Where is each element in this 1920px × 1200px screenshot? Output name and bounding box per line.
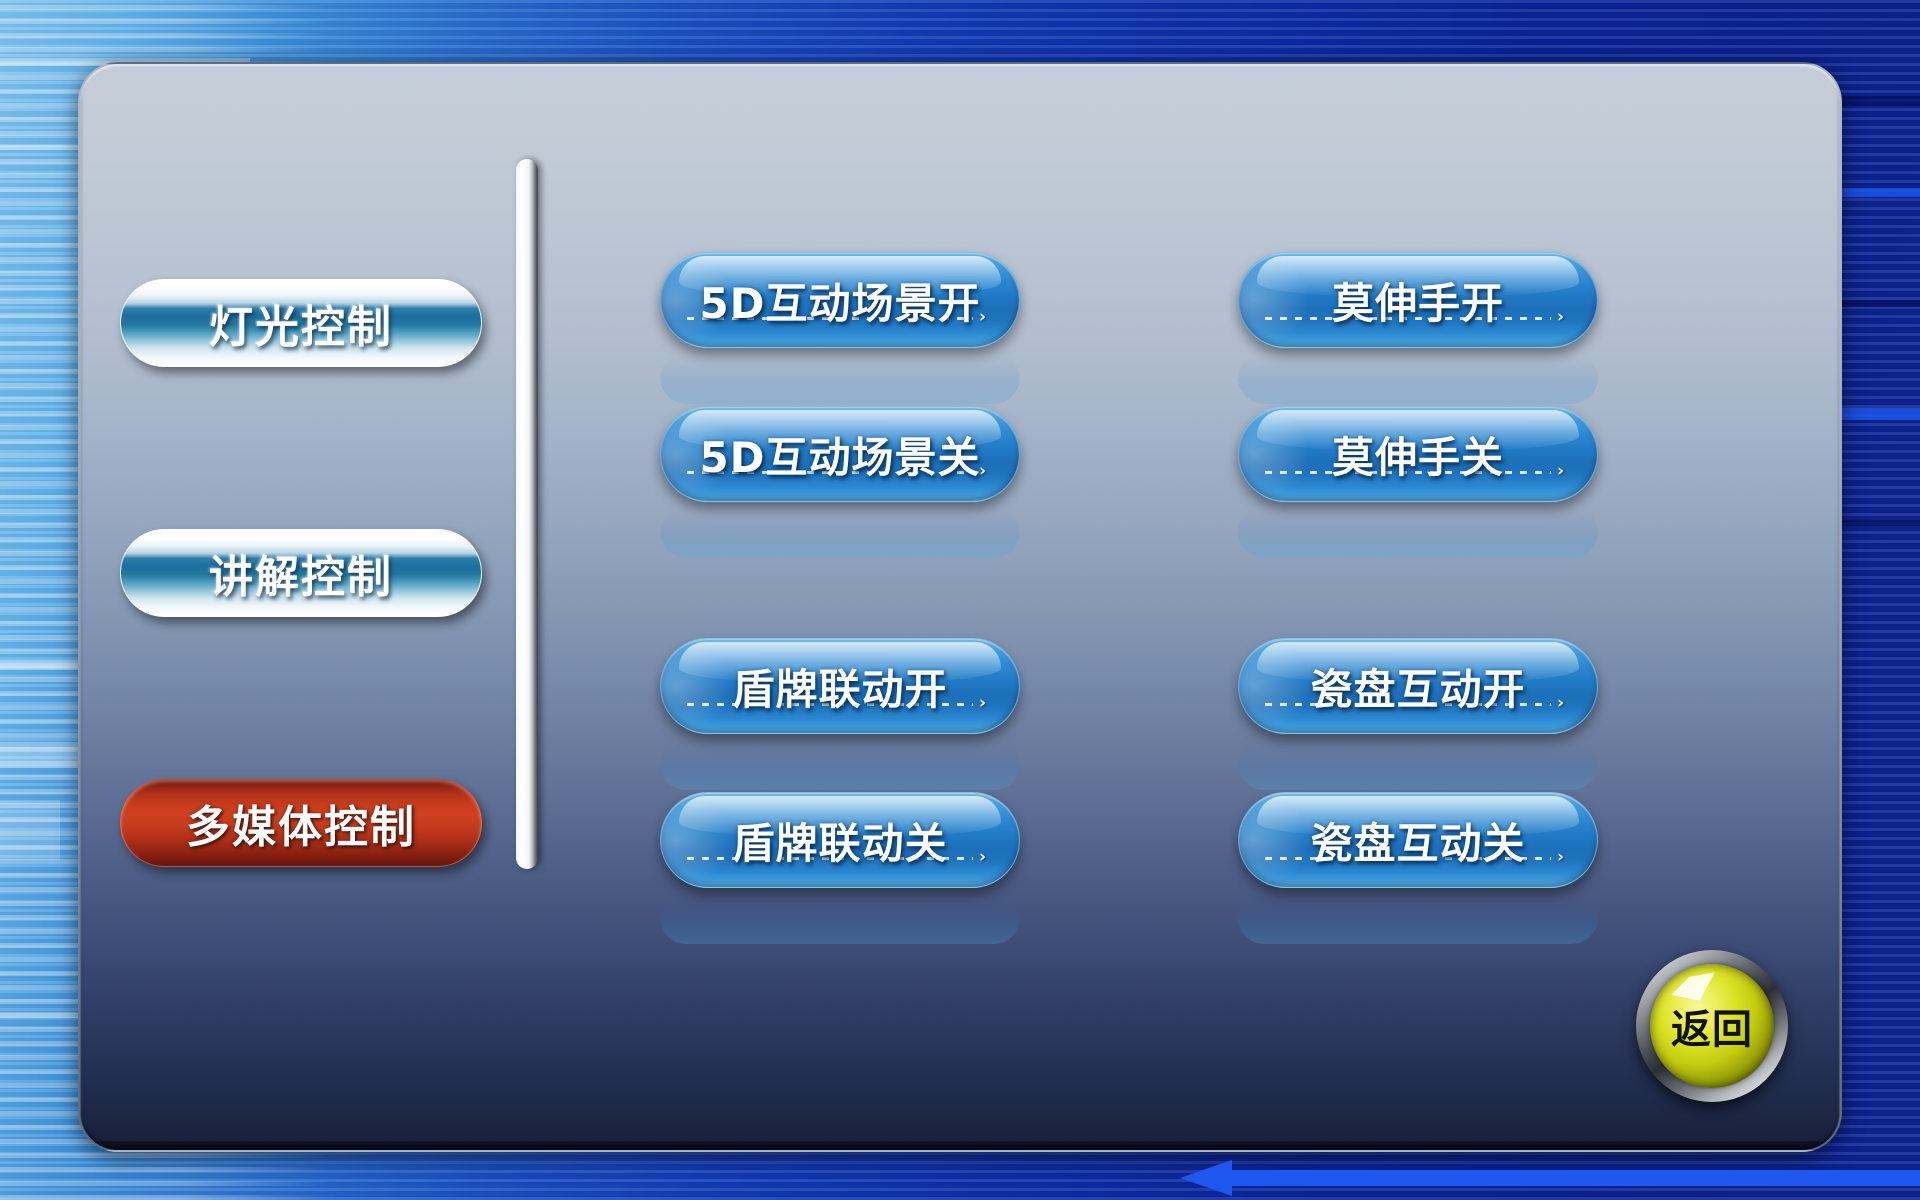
action-button-5d-scene-on[interactable]: 5D互动场景开 › [660,252,1020,348]
chevron-right-icon: › [979,697,995,711]
chevron-right-icon: › [1557,311,1573,325]
button-cell: 莫伸手关 › [1238,406,1598,560]
action-button-label: 莫伸手关 [1332,424,1504,485]
chevron-right-icon: › [1557,851,1573,865]
sidebar-nav: 灯光控制 讲解控制 多媒体控制 [120,279,500,1029]
sidebar-item-label: 讲解控制 [209,541,393,605]
button-reflection [660,742,1020,790]
button-cell: 5D互动场景关 › [660,406,1020,560]
button-reflection [1238,510,1598,558]
sidebar-item-label: 灯光控制 [209,291,393,355]
action-button-moshenshou-on[interactable]: 莫伸手开 › [1238,252,1598,348]
button-cell: 盾牌联动开 › [660,638,1020,792]
chevron-right-icon: › [1557,697,1573,711]
action-button-label: 莫伸手开 [1332,270,1504,331]
action-button-shield-linkage-on[interactable]: 盾牌联动开 › [660,638,1020,734]
sidebar-item-narration-control[interactable]: 讲解控制 [120,529,482,617]
button-reflection [1238,356,1598,404]
background-streak [0,800,60,860]
button-row: 盾牌联动关 › 瓷盘互动关 › [660,792,1780,946]
return-button-face: 返回 [1650,964,1774,1088]
action-button-label: 瓷盘互动开 [1310,656,1525,717]
control-panel: 灯光控制 讲解控制 多媒体控制 5D互动场景开 › [78,62,1842,1152]
button-reflection [1238,896,1598,944]
vertical-divider [516,159,538,869]
action-button-grid: 5D互动场景开 › 莫伸手开 › [660,252,1780,946]
action-button-label: 瓷盘互动关 [1310,810,1525,871]
action-button-label: 5D互动场景关 [699,424,980,485]
button-row: 5D互动场景开 › 莫伸手开 › [660,252,1780,406]
sidebar-item-label: 多媒体控制 [186,791,416,855]
action-button-porcelain-plate-on[interactable]: 瓷盘互动开 › [1238,638,1598,734]
button-reflection [1238,742,1598,790]
sidebar-item-light-control[interactable]: 灯光控制 [120,279,482,367]
action-button-porcelain-plate-off[interactable]: 瓷盘互动关 › [1238,792,1598,888]
button-cell: 莫伸手开 › [1238,252,1598,406]
left-arrow-icon [1180,1160,1920,1196]
action-button-moshenshou-off[interactable]: 莫伸手关 › [1238,406,1598,502]
button-reflection [660,896,1020,944]
button-row: 盾牌联动开 › 瓷盘互动开 › [660,638,1780,792]
action-button-shield-linkage-off[interactable]: 盾牌联动关 › [660,792,1020,888]
button-cell: 盾牌联动关 › [660,792,1020,946]
chevron-right-icon: › [979,311,995,325]
group-separator [660,560,1780,638]
chevron-right-icon: › [979,465,995,479]
button-cell: 瓷盘互动关 › [1238,792,1598,946]
sidebar-item-multimedia-control[interactable]: 多媒体控制 [120,779,482,867]
button-reflection [660,510,1020,558]
button-cell: 瓷盘互动开 › [1238,638,1598,792]
button-reflection [660,356,1020,404]
action-button-label: 5D互动场景开 [699,270,980,331]
action-button-label: 盾牌联动关 [732,810,947,871]
chevron-right-icon: › [1557,465,1573,479]
return-button-label: 返回 [1671,997,1753,1055]
action-button-5d-scene-off[interactable]: 5D互动场景关 › [660,406,1020,502]
action-button-label: 盾牌联动开 [732,656,947,717]
chevron-right-icon: › [979,851,995,865]
button-row: 5D互动场景关 › 莫伸手关 › [660,406,1780,560]
return-button[interactable]: 返回 [1636,950,1788,1102]
button-cell: 5D互动场景开 › [660,252,1020,406]
